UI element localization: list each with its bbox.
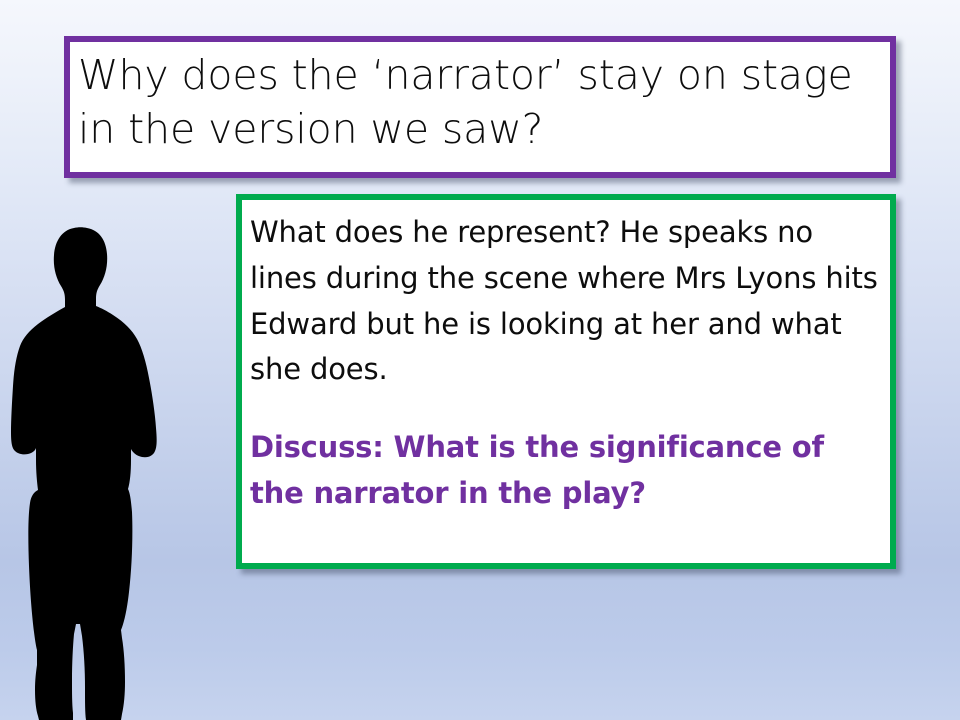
paragraph-spacer bbox=[250, 393, 880, 425]
title-textbox: Why does the ‘narrator’ stay on stage in… bbox=[64, 36, 896, 178]
discuss-prompt: Discuss: What is the significance of the… bbox=[250, 425, 880, 517]
page-title: Why does the ‘narrator’ stay on stage in… bbox=[78, 48, 880, 156]
slide-canvas: Why does the ‘narrator’ stay on stage in… bbox=[0, 0, 960, 720]
body-paragraph: What does he represent? He speaks no lin… bbox=[250, 210, 880, 393]
body-textbox: What does he represent? He speaks no lin… bbox=[236, 194, 896, 569]
man-silhouette bbox=[0, 210, 200, 720]
